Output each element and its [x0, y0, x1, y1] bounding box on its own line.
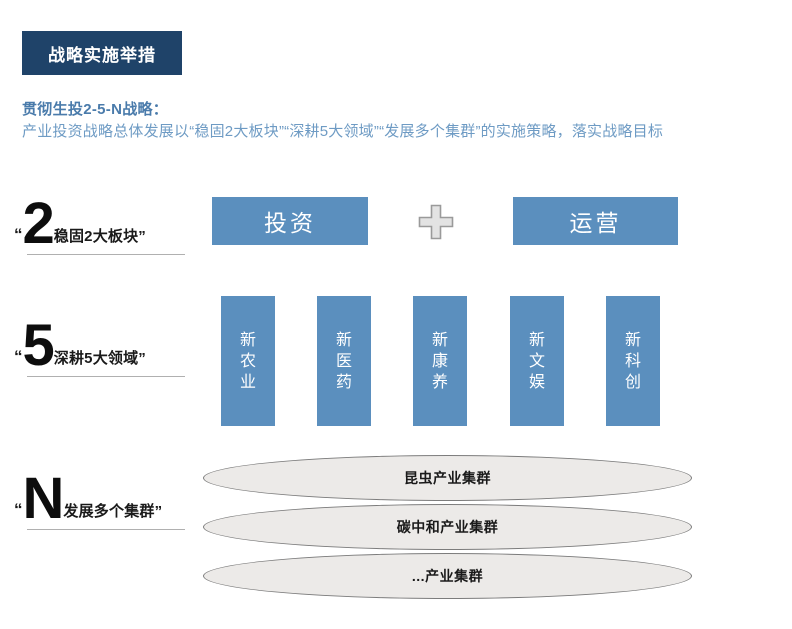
sector-box-operations[interactable]: 运营: [513, 197, 678, 245]
cluster-other-industry[interactable]: ...产业集群: [203, 553, 692, 599]
row-label-text: 稳固2大板块”: [54, 229, 146, 247]
page-title: 战略实施举措: [48, 41, 156, 66]
header-banner: 战略实施举措: [22, 31, 182, 75]
pillar-new-pharma[interactable]: 新医药: [317, 296, 371, 426]
pillar-new-tech[interactable]: 新科创: [606, 296, 660, 426]
plus-icon: [417, 203, 455, 241]
row-label-numeral: 2: [23, 201, 54, 247]
row-label-two: “ 2 稳固2大板块”: [14, 183, 189, 255]
pillar-label: 新康养: [431, 330, 449, 393]
pillar-label: 新科创: [624, 330, 642, 393]
quote-open-icon: “: [14, 501, 23, 522]
row-label-divider: [27, 376, 185, 377]
intro-heading: 贯彻生投2-5-N战略：: [22, 99, 767, 120]
pillar-label: 新农业: [239, 330, 257, 393]
sector-box-label: 投资: [264, 204, 316, 238]
row-label-numeral: N: [23, 476, 64, 522]
cluster-label: 昆虫产业集群: [404, 468, 491, 488]
row-label-divider: [27, 529, 185, 530]
pillar-new-agriculture[interactable]: 新农业: [221, 296, 275, 426]
quote-open-icon: “: [14, 348, 23, 369]
sector-box-investment[interactable]: 投资: [212, 197, 368, 245]
pillar-new-culture[interactable]: 新文娱: [510, 296, 564, 426]
row-label-five: “ 5 深耕5大领域”: [14, 305, 189, 377]
cluster-label: ...产业集群: [412, 566, 483, 586]
row-label-numeral: 5: [23, 323, 54, 369]
quote-open-icon: “: [14, 226, 23, 247]
cluster-carbon-neutral-industry[interactable]: 碳中和产业集群: [203, 504, 692, 550]
cluster-insect-industry[interactable]: 昆虫产业集群: [203, 455, 692, 501]
pillar-label: 新文娱: [528, 330, 546, 393]
sector-box-label: 运营: [570, 204, 622, 238]
row-label-text: 深耕5大领域”: [54, 351, 146, 369]
row-label-divider: [27, 254, 185, 255]
row-label-n: “ N 发展多个集群”: [14, 458, 189, 530]
row-label-text: 发展多个集群”: [63, 504, 162, 522]
pillar-new-health[interactable]: 新康养: [413, 296, 467, 426]
intro-body: 产业投资战略总体发展以“稳固2大板块”“深耕5大领域”“发展多个集群”的实施策略…: [22, 120, 767, 143]
cluster-label: 碳中和产业集群: [397, 517, 499, 537]
pillar-label: 新医药: [335, 330, 353, 393]
intro-block: 贯彻生投2-5-N战略： 产业投资战略总体发展以“稳固2大板块”“深耕5大领域”…: [22, 99, 767, 143]
